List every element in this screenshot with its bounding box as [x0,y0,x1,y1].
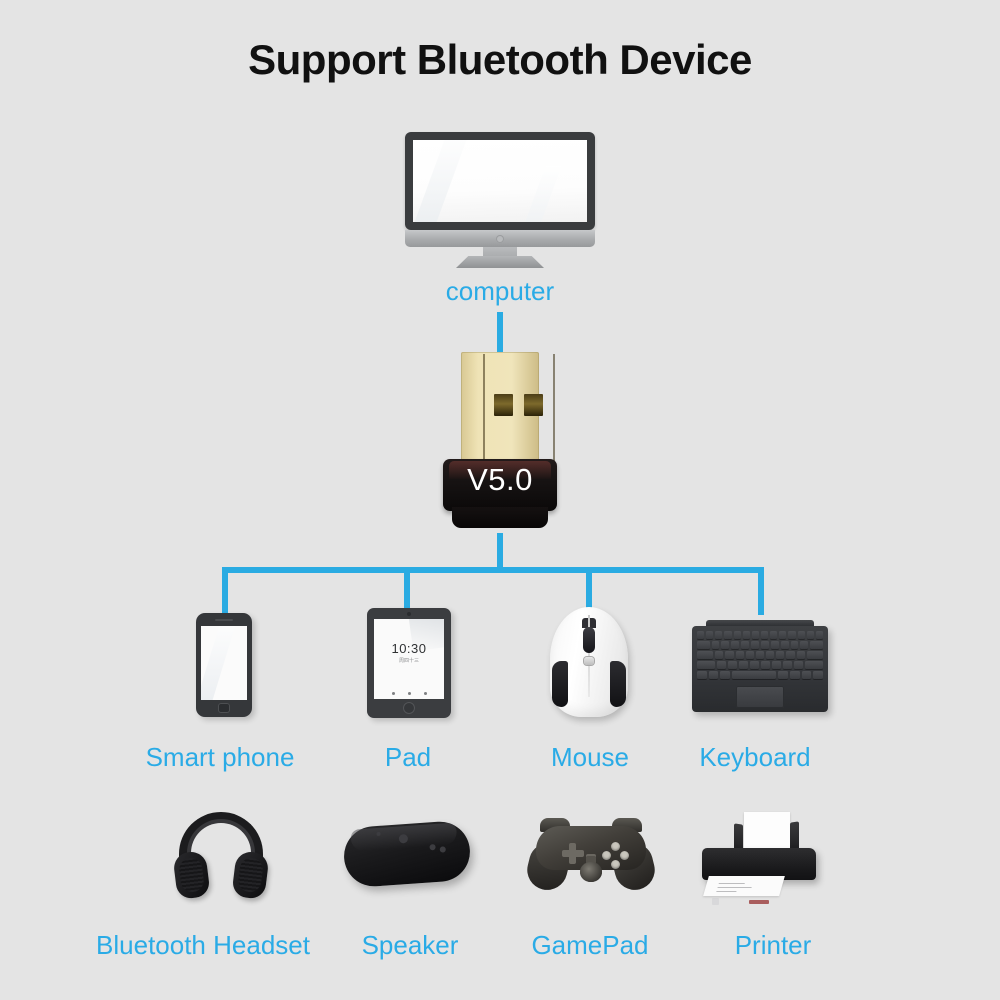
usb-edge [483,354,485,462]
connector-bus [222,567,764,573]
phone-earpiece [215,619,233,621]
keyboard-key [791,641,799,649]
gamepad-face-button [602,851,611,860]
keyboard-key [728,661,737,669]
printer-power-button [712,898,719,905]
keyboard-key [807,651,823,659]
gamepad-dpad [569,843,576,864]
screen-glare-icon [413,140,470,222]
keyboard-key [805,661,823,669]
connector-hub-stem [497,533,503,571]
keyboard-key [810,641,823,649]
gamepad-face-button [611,842,620,851]
keyboard-key [797,651,805,659]
keyboard-key [697,651,713,659]
headphone-earcup [231,850,269,900]
keyboard-key [786,651,794,659]
tablet-body: 10:30 周四十三 [367,608,451,718]
keyboard-row [697,641,823,649]
tablet-screen: 10:30 周四十三 [374,619,444,699]
keyboard-row [697,651,823,659]
mouse-side-grip [610,661,626,707]
monitor-base [456,256,544,268]
keyboard-key [739,661,748,669]
phone-screen [201,626,247,700]
phone-body [196,613,252,717]
page-title: Support Bluetooth Device [0,36,1000,84]
mouse-side-grip [552,661,568,707]
screen-glare-icon [516,166,561,222]
tablet-app-dots [374,692,444,695]
keyboard-key [798,631,805,639]
keyboard-key [734,631,741,639]
gamepad-label: GamePad [510,930,670,961]
keyboard-key [802,671,812,679]
keyboard-key [800,641,808,649]
connector-computer-to-hub [497,312,503,354]
keyboard-key [715,651,723,659]
keyboard-key [725,651,733,659]
tablet-camera [407,612,411,616]
usb-contact-slot [494,394,513,416]
monitor-chin [405,230,595,247]
screen-glare-icon [201,626,239,700]
keyboard-icon [692,620,828,712]
keyboard-trackpad [736,686,784,708]
mouse-body [550,607,628,717]
speaker-button [429,844,435,850]
monitor-bezel [405,132,595,230]
tablet-clock-date: 周四十三 [374,657,444,664]
printer-output-paper [703,876,785,896]
keyboard-key [756,651,764,659]
keyboard-key [761,641,769,649]
connector-drop-mouse [586,567,592,612]
paper-print-line [716,891,736,892]
keyboard-key [741,641,749,649]
keyboard-key [761,631,768,639]
connector-drop-pad [404,567,410,612]
tablet-clock-time: 10:30 [374,641,444,656]
infographic-canvas: Support Bluetooth Device computer V5.0 [0,0,1000,1000]
headset-label: Bluetooth Headset [78,930,328,961]
mouse-dpi-button [584,657,594,665]
keyboard-key [712,641,720,649]
monitor-power-button [496,235,504,243]
computer-label: computer [400,276,600,307]
keyboard-spacebar [732,671,776,679]
speaker-body [342,820,472,889]
headphones-icon [175,812,267,898]
app-dot [392,692,395,695]
keyboard-key [697,671,707,679]
headphone-earpad [237,857,264,894]
keyboard-key [697,641,710,649]
gamepad-icon [522,818,660,892]
bluetooth-usb-adapter: V5.0 [443,352,557,534]
keyboard-key [746,651,754,659]
keyboard-keys [697,631,823,679]
keyboard-key [724,631,731,639]
paper-print-line [717,887,751,888]
keyboard-key [731,641,739,649]
usb-edge [553,354,555,462]
keyboard-key [717,661,726,669]
mouse-icon [550,607,628,717]
keyboard-key [816,631,823,639]
printer-icon [700,812,826,898]
keyboard-key [783,661,792,669]
smartphone-label: Smart phone [120,742,320,773]
connector-drop-keyboard [758,567,764,615]
gamepad-face-button [611,860,620,869]
keyboard-key [751,641,759,649]
keyboard-key [766,651,774,659]
monitor-screen [413,140,587,222]
desktop-monitor-icon [405,132,595,262]
connector-drop-smartphone [222,567,228,615]
gamepad-analog-stick [580,862,602,882]
speaker-label: Speaker [330,930,490,961]
keyboard-key [781,641,789,649]
keyboard-row [697,631,823,639]
keyboard-key [807,631,814,639]
usb-connector [461,352,539,464]
keyboard-key [776,651,784,659]
keyboard-label: Keyboard [655,742,855,773]
gamepad-face-button [620,851,629,860]
smartphone-icon [196,613,252,717]
tablet-label: Pad [308,742,508,773]
keyboard-key [790,671,800,679]
keyboard-key [794,661,803,669]
usb-contact-slot [524,394,543,416]
speaker-button [440,846,446,852]
gamepad-body [536,826,646,870]
keyboard-key [709,671,719,679]
keyboard-key [761,661,770,669]
app-dot [424,692,427,695]
adapter-foot [452,507,548,528]
keyboard-row [697,671,823,679]
keyboard-key [770,631,777,639]
keyboard-body [692,626,828,712]
adapter-version-label: V5.0 [443,462,557,498]
speaker-icon [344,818,470,890]
printer-brand-logo [749,900,769,904]
keyboard-key [750,661,759,669]
tablet-home-button [403,702,415,714]
mouse-scroll-wheel [583,627,595,653]
phone-home-button [218,703,230,713]
tablet-icon: 10:30 周四十三 [367,608,451,718]
keyboard-key [779,631,786,639]
keyboard-row [697,661,823,669]
headphone-earpad [178,857,205,894]
keyboard-key [721,641,729,649]
keyboard-key [706,631,713,639]
keyboard-key [715,631,722,639]
keyboard-key [697,631,704,639]
keyboard-key [771,641,779,649]
keyboard-key [720,671,730,679]
keyboard-key [743,631,750,639]
paper-print-line [719,883,745,884]
keyboard-key [752,631,759,639]
app-dot [408,692,411,695]
keyboard-key [813,671,823,679]
printer-label: Printer [693,930,853,961]
keyboard-key [788,631,795,639]
keyboard-key [772,661,781,669]
keyboard-key [778,671,788,679]
keyboard-key [697,661,715,669]
keyboard-key [736,651,744,659]
